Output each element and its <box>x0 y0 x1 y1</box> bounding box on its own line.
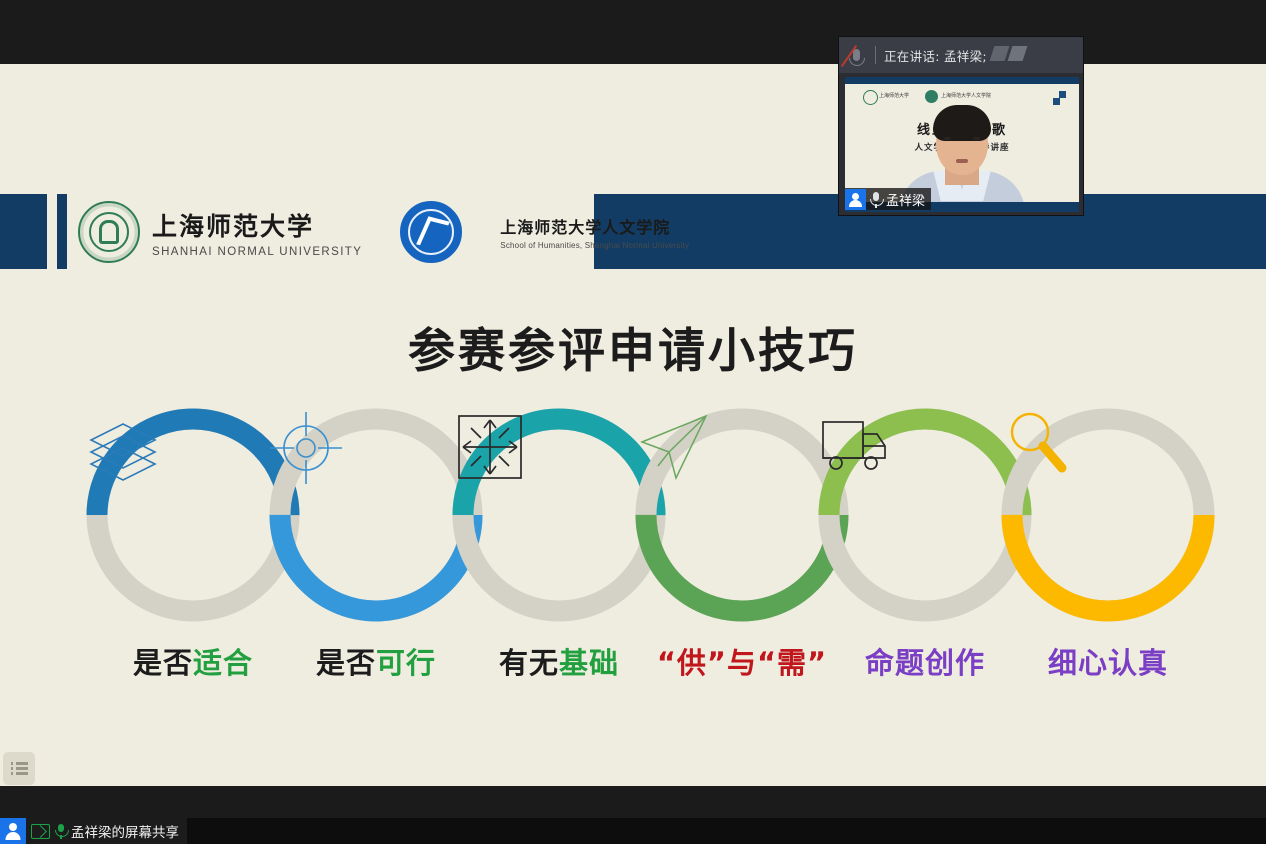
inner-squares-icon <box>1053 91 1067 105</box>
logo2-en: School of Humanities, Shanghai Normal Un… <box>500 241 689 250</box>
video-panel-titlebar: 正在讲话: 孟祥梁; <box>839 37 1083 73</box>
mic-muted-icon <box>839 37 873 73</box>
ring-label-row: 是否适合是否可行有无基础“供”与“需”命题创作细心认真 <box>84 640 1210 688</box>
label-prefix: 有无 <box>499 646 559 680</box>
label-highlight: 基础 <box>559 646 619 680</box>
logo1-cn: 上海师范大学 <box>152 207 362 243</box>
mic-on-icon <box>54 822 67 840</box>
logo-text-humanities: 上海师范大学人文学院 School of Humanities, Shangha… <box>500 214 689 250</box>
speaker-video-panel[interactable]: 正在讲话: 孟祥梁; 上海师范大学 上海师范大学人文学院 线上读书声歌 人文学院… <box>838 36 1084 216</box>
participant-avatar-icon <box>845 189 866 210</box>
ring-6 <box>999 406 1217 624</box>
screen-share-indicator[interactable]: 孟祥梁的屏幕共享 <box>0 818 187 844</box>
slide-title: 参赛参评申请小技巧 <box>0 312 1266 381</box>
logo2-cn: 上海师范大学人文学院 <box>500 214 689 238</box>
ring-label-6: 细心认真 <box>999 640 1217 682</box>
participant-avatar-icon <box>0 818 26 844</box>
chevrons-icon[interactable] <box>992 46 1025 61</box>
label-highlight: 细心认真 <box>1048 646 1168 680</box>
label-highlight: 命题创作 <box>865 646 985 680</box>
label-highlight: 可行 <box>376 646 436 680</box>
zoom-taskbar: 孟祥梁的屏幕共享 <box>0 818 1266 844</box>
inner-seal-green-icon <box>863 90 878 105</box>
screen-share-window: 上海师范大学 SHANHAI NORMAL UNIVERSITY 上海师范大学人… <box>0 0 1266 844</box>
label-prefix: 是否 <box>316 646 376 680</box>
logo-text-university: 上海师范大学 SHANHAI NORMAL UNIVERSITY <box>152 207 362 258</box>
label-prefix: 是否 <box>133 646 193 680</box>
header-block-left <box>0 194 47 269</box>
label-highlight: “供”与“需” <box>657 646 827 680</box>
mic-on-icon <box>869 190 883 208</box>
label-highlight: 适合 <box>193 646 253 680</box>
logo1-en: SHANHAI NORMAL UNIVERSITY <box>152 246 362 258</box>
screen-share-icon <box>31 824 50 839</box>
participant-name: 孟祥梁 <box>886 190 925 209</box>
ring-chain-diagram <box>84 406 1210 626</box>
shnu-green-seal-icon <box>78 201 140 263</box>
humanities-blue-seal-icon <box>400 201 462 263</box>
magnifier-icon <box>999 406 1217 624</box>
slide-header-logos: 上海师范大学 SHANHAI NORMAL UNIVERSITY 上海师范大学人… <box>78 198 689 266</box>
speaker-name-tag: 孟祥梁 <box>845 188 931 210</box>
header-block-bar <box>57 194 67 269</box>
titlebar-divider <box>875 46 876 64</box>
speaking-label: 正在讲话: 孟祥梁; <box>884 46 987 65</box>
share-label: 孟祥梁的屏幕共享 <box>71 821 179 841</box>
list-menu-icon[interactable] <box>3 752 35 785</box>
